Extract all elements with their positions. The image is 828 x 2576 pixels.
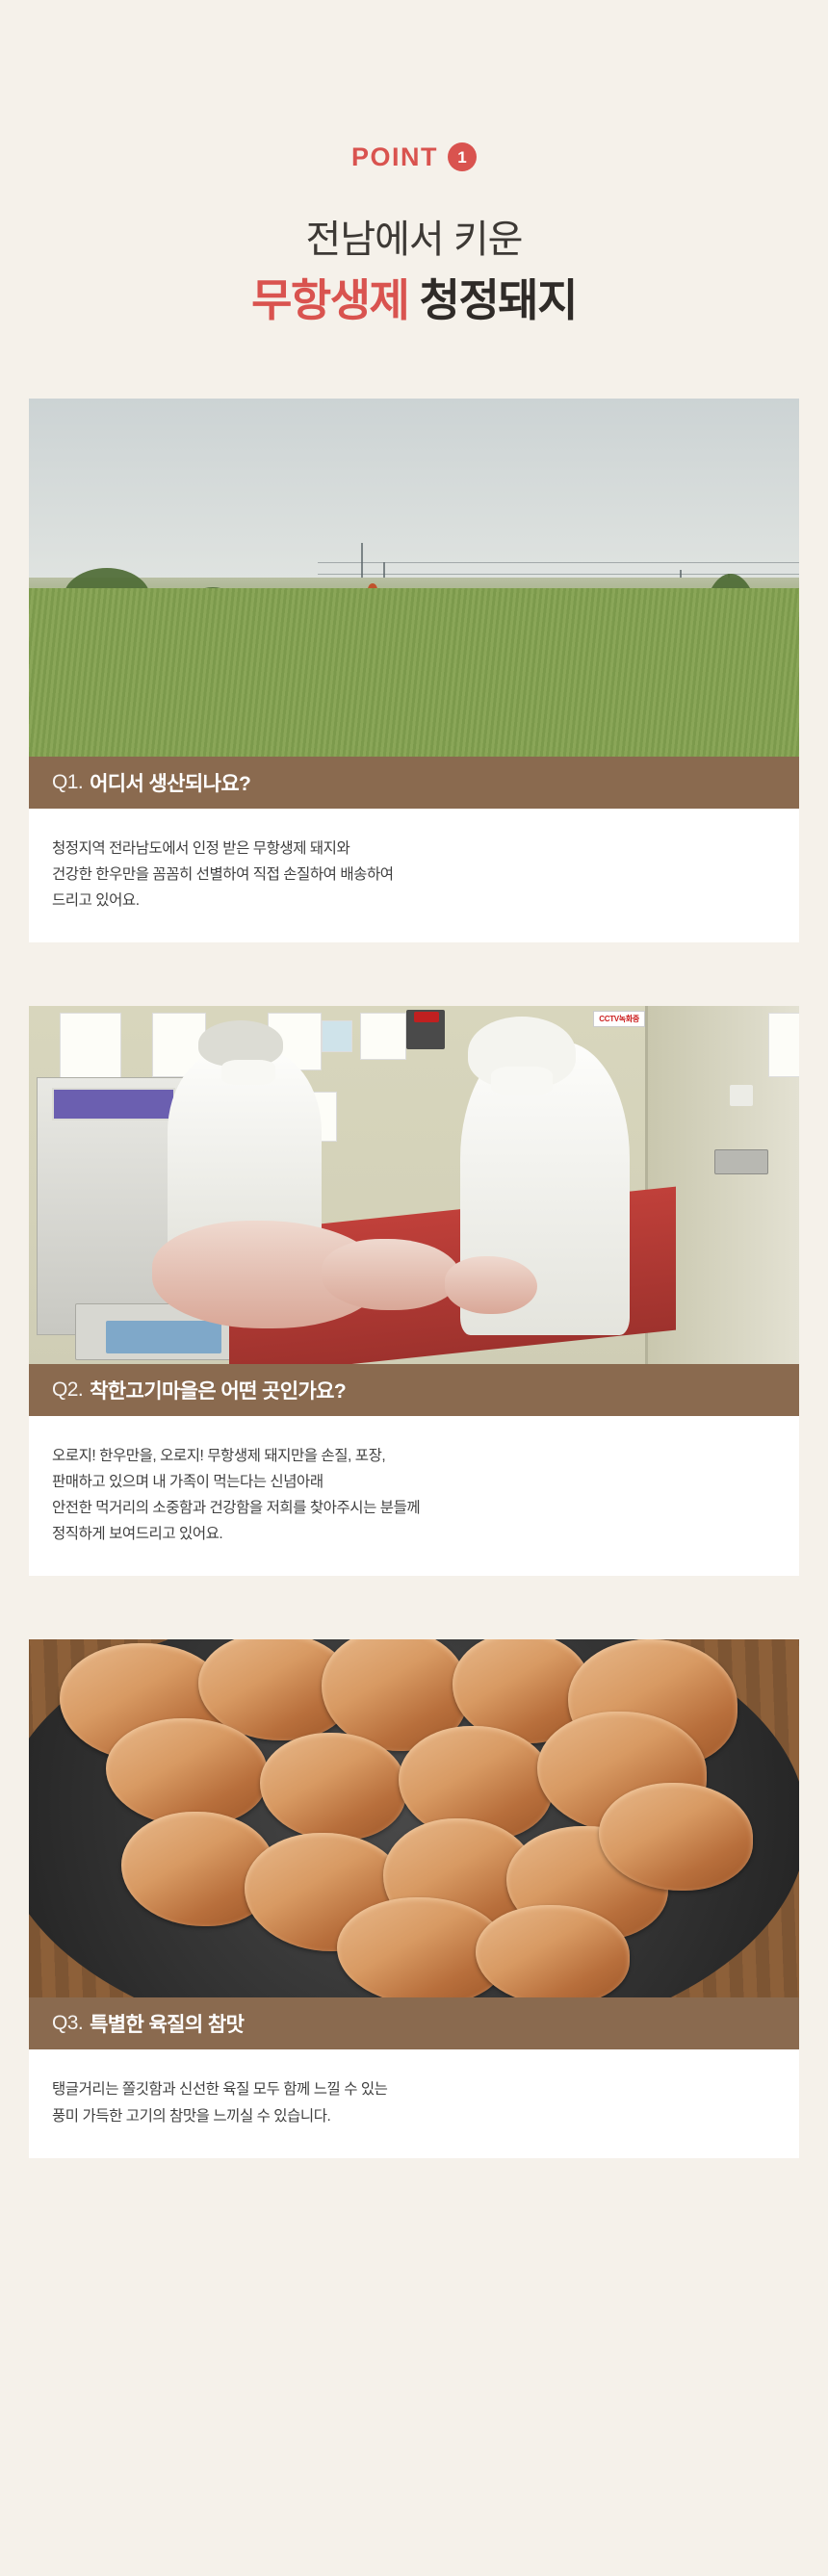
q1-question: 어디서 생산되나요? [90,768,250,797]
qa-section-1: Q1. 어디서 생산되나요? 청정지역 전라남도에서 인정 받은 무항생제 돼지… [29,399,799,942]
point-number-badge: 1 [448,142,477,171]
scale-display [52,1088,175,1120]
wall-document [768,1013,799,1077]
control-panel-display [414,1012,439,1022]
page-title-subline: 전남에서 키운 [0,216,828,264]
sky-haze [29,399,799,578]
q1-answer-line: 드리고 있어요. [52,888,776,914]
q2-bar: Q2. 착한고기마을은 어떤 곳인가요? [29,1364,799,1416]
page-title-accent: 무항생제 [251,275,408,325]
processing-room-photo: CCTV녹화중 [29,1006,799,1364]
door-switch [730,1085,753,1106]
scale-keypad-keys [106,1321,221,1352]
pork-trim [445,1256,537,1314]
power-line [318,562,799,563]
page-title: 무항생제 청정돼지 [0,273,828,329]
page-title-main: 청정돼지 [420,275,577,325]
worker-right-mask [491,1067,553,1095]
qa-section-2: CCTV녹화중 Q2. 착한고기마을은 어떤 곳인가요? 오로지! 한우만을, … [29,1006,799,1577]
point-label: POINT [351,144,438,170]
cctv-sign: CCTV녹화중 [593,1011,645,1027]
door-handle [714,1149,768,1174]
q2-question: 착한고기마을은 어떤 곳인가요? [90,1376,346,1404]
q3-answer: 탱글거리는 쫄깃함과 신선한 육질 모두 함께 느낄 수 있는 풍미 가득한 고… [29,2049,799,2157]
q2-answer-line: 안전한 먹거리의 소중함과 건강함을 저희를 찾아주시는 분들께 [52,1495,776,1521]
page-header: POINT 1 전남에서 키운 무항생제 청정돼지 [0,0,828,329]
q3-bar: Q3. 특별한 육질의 참맛 [29,1997,799,2049]
rice-field [29,588,799,757]
q1-number: Q1. [52,771,83,794]
q3-question: 특별한 육질의 참맛 [90,2009,244,2038]
wall-document [360,1013,406,1059]
q3-answer-line: 풍미 가득한 고기의 참맛을 느끼실 수 있습니다. [52,2103,776,2129]
q1-answer-line: 건강한 한우만을 꼼꼼히 선별하여 직접 손질하여 배송하여 [52,862,776,888]
wall-thermometer [322,1020,352,1052]
q2-answer-line: 오로지! 한우만을, 오로지! 무항생제 돼지만을 손질, 포장, [52,1443,776,1469]
q3-answer-line: 탱글거리는 쫄깃함과 신선한 육질 모두 함께 느낄 수 있는 [52,2076,776,2102]
q2-answer-line: 판매하고 있으며 내 가족이 먹는다는 신념아래 [52,1469,776,1495]
q2-answer-line: 정직하게 보여드리고 있어요. [52,1521,776,1547]
q1-answer: 청정지역 전라남도에서 인정 받은 무항생제 돼지와 건강한 한우만을 꼼꼼히 … [29,809,799,942]
qa-section-3: Q3. 특별한 육질의 참맛 탱글거리는 쫄깃함과 신선한 육질 모두 함께 느… [29,1639,799,2157]
point-badge: POINT 1 [0,142,828,171]
q2-answer: 오로지! 한우만을, 오로지! 무항생제 돼지만을 손질, 포장, 판매하고 있… [29,1416,799,1577]
pork-slice [476,1905,630,1998]
page-bottom-spacer [0,2158,828,2226]
q3-number: Q3. [52,2012,83,2035]
q1-bar: Q1. 어디서 생산되나요? [29,757,799,809]
q2-number: Q2. [52,1378,83,1402]
q1-answer-line: 청정지역 전라남도에서 인정 받은 무항생제 돼지와 [52,836,776,862]
worker-left-mask [221,1060,275,1085]
pork-trim [322,1239,460,1310]
farm-field-photo [29,399,799,757]
grilled-pork-photo [29,1639,799,1997]
product-detail-page: POINT 1 전남에서 키운 무항생제 청정돼지 [0,0,828,2576]
